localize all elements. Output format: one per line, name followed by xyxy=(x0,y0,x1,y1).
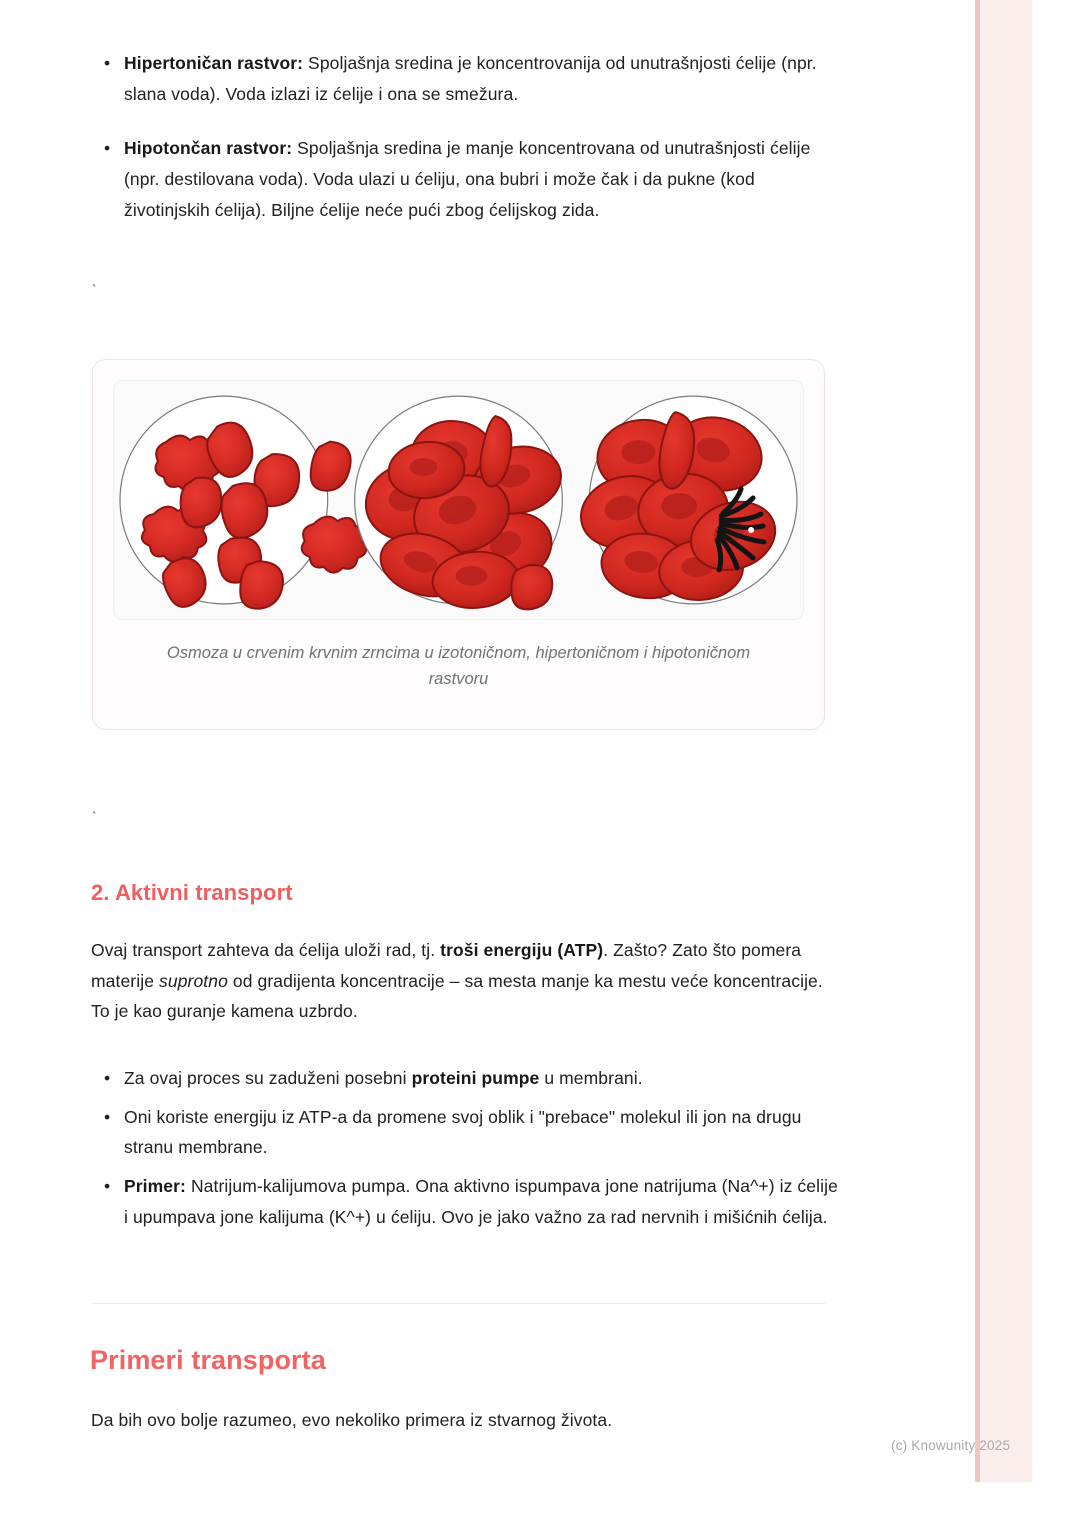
para-bold: troši energiju (ATP) xyxy=(440,940,603,960)
list-item-text: u membrani. xyxy=(539,1068,642,1088)
bullet-marker: • xyxy=(104,1063,110,1094)
list-item-bold: Primer: xyxy=(124,1176,186,1196)
osmosis-solution-list: • Hipertoničan rastvor: Spoljašnja sredi… xyxy=(88,48,833,249)
stray-backtick-first: ` xyxy=(88,283,96,296)
right-page-accent-strip xyxy=(975,0,1032,1482)
bullet-marker: • xyxy=(104,1102,110,1133)
panel-hypotonic xyxy=(572,396,797,604)
list-item-term: Hipertoničan rastvor: xyxy=(124,53,303,73)
copyright-watermark: (c) Knowunity 2025 xyxy=(891,1438,1010,1453)
bullet-marker: • xyxy=(104,48,110,79)
transport-examples-paragraph: Da bih ovo bolje razumeo, evo nekoliko p… xyxy=(91,1405,833,1436)
active-transport-paragraph: Ovaj transport zahteva da ćelija uloži r… xyxy=(91,935,833,1027)
para-italic: suprotno xyxy=(159,971,228,991)
list-item: • Primer: Natrijum-kalijumova pumpa. Ona… xyxy=(88,1171,838,1232)
bullet-marker: • xyxy=(104,133,110,164)
figure-caption: Osmoza u crvenim krvnim zrncima u izoton… xyxy=(113,640,804,709)
list-item-text: Za ovaj proces su zaduženi posebni xyxy=(124,1068,412,1088)
active-transport-list: • Za ovaj proces su zaduženi posebni pro… xyxy=(88,1063,838,1232)
bullet-marker: • xyxy=(104,1171,110,1202)
heading-transport-examples: Primeri transporta xyxy=(90,1345,326,1376)
section-divider xyxy=(92,1303,825,1304)
figure-image-frame xyxy=(113,380,804,620)
list-item-text: Oni koriste energiju iz ATP-a da promene… xyxy=(124,1107,801,1158)
list-item: • Oni koriste energiju iz ATP-a da prome… xyxy=(88,1102,838,1163)
heading-active-transport: 2. Aktivni transport xyxy=(91,880,293,906)
list-item: • Za ovaj proces su zaduženi posebni pro… xyxy=(88,1063,838,1094)
panel-isotonic xyxy=(355,396,568,612)
list-item-term: Hipotončan rastvor: xyxy=(124,138,292,158)
lysis-vacuole-dot xyxy=(748,527,754,533)
panel-hypertonic xyxy=(120,396,366,613)
figure-card: Osmoza u crvenim krvnim zrncima u izoton… xyxy=(92,359,825,730)
list-item: • Hipotončan rastvor: Spoljašnja sredina… xyxy=(88,133,833,225)
red-blood-cells-osmosis-illustration xyxy=(114,384,803,616)
list-item: • Hipertoničan rastvor: Spoljašnja sredi… xyxy=(88,48,833,109)
stray-backtick-second: ` xyxy=(88,810,96,823)
right-page-accent-edge xyxy=(975,0,980,1482)
list-item-text: Natrijum-kalijumova pumpa. Ona aktivno i… xyxy=(124,1176,838,1227)
list-item-bold: proteini pumpe xyxy=(412,1068,540,1088)
para-part: Ovaj transport zahteva da ćelija uloži r… xyxy=(91,940,440,960)
